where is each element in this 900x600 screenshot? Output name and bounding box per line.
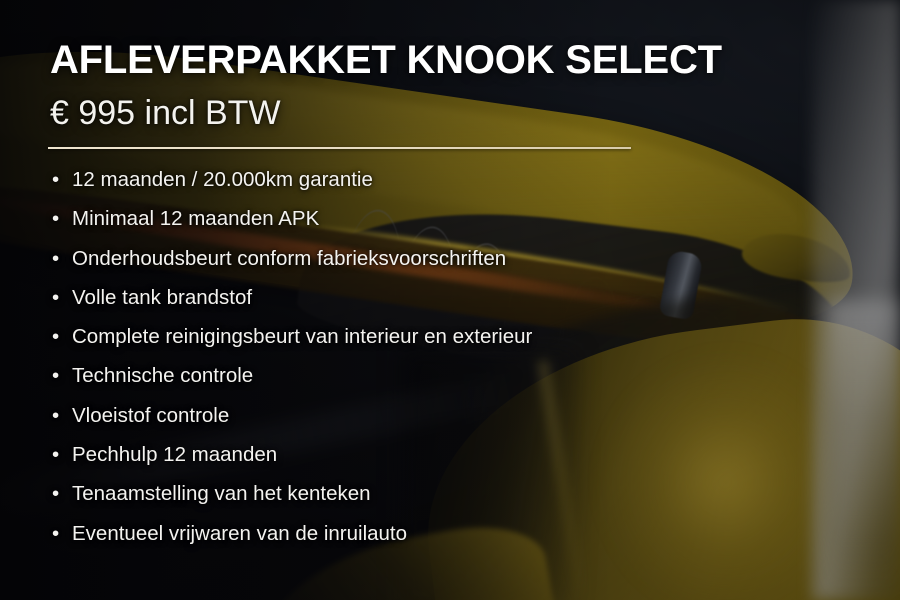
feature-item: Eventueel vrijwaren van de inruilauto [48,520,532,559]
feature-item: 12 maanden / 20.000km garantie [48,166,532,205]
feature-item: Vloeistof controle [48,402,532,441]
promo-slide: AFLEVERPAKKET KNOOK SELECT € 995 incl BT… [0,0,900,600]
page-title: AFLEVERPAKKET KNOOK SELECT [50,38,722,83]
feature-item: Complete reinigingsbeurt van interieur e… [48,323,532,362]
price-subtitle: € 995 incl BTW [50,94,281,133]
feature-item: Pechhulp 12 maanden [48,441,532,480]
title-divider [48,147,631,149]
feature-item: Onderhoudsbeurt conform fabrieksvoorschr… [48,245,532,284]
content-block: AFLEVERPAKKET KNOOK SELECT € 995 incl BT… [48,0,668,600]
feature-item: Technische controle [48,362,532,401]
feature-item: Minimaal 12 maanden APK [48,205,532,244]
feature-list: 12 maanden / 20.000km garantieMinimaal 1… [48,166,532,559]
feature-item: Volle tank brandstof [48,284,532,323]
feature-item: Tenaamstelling van het kenteken [48,480,532,519]
